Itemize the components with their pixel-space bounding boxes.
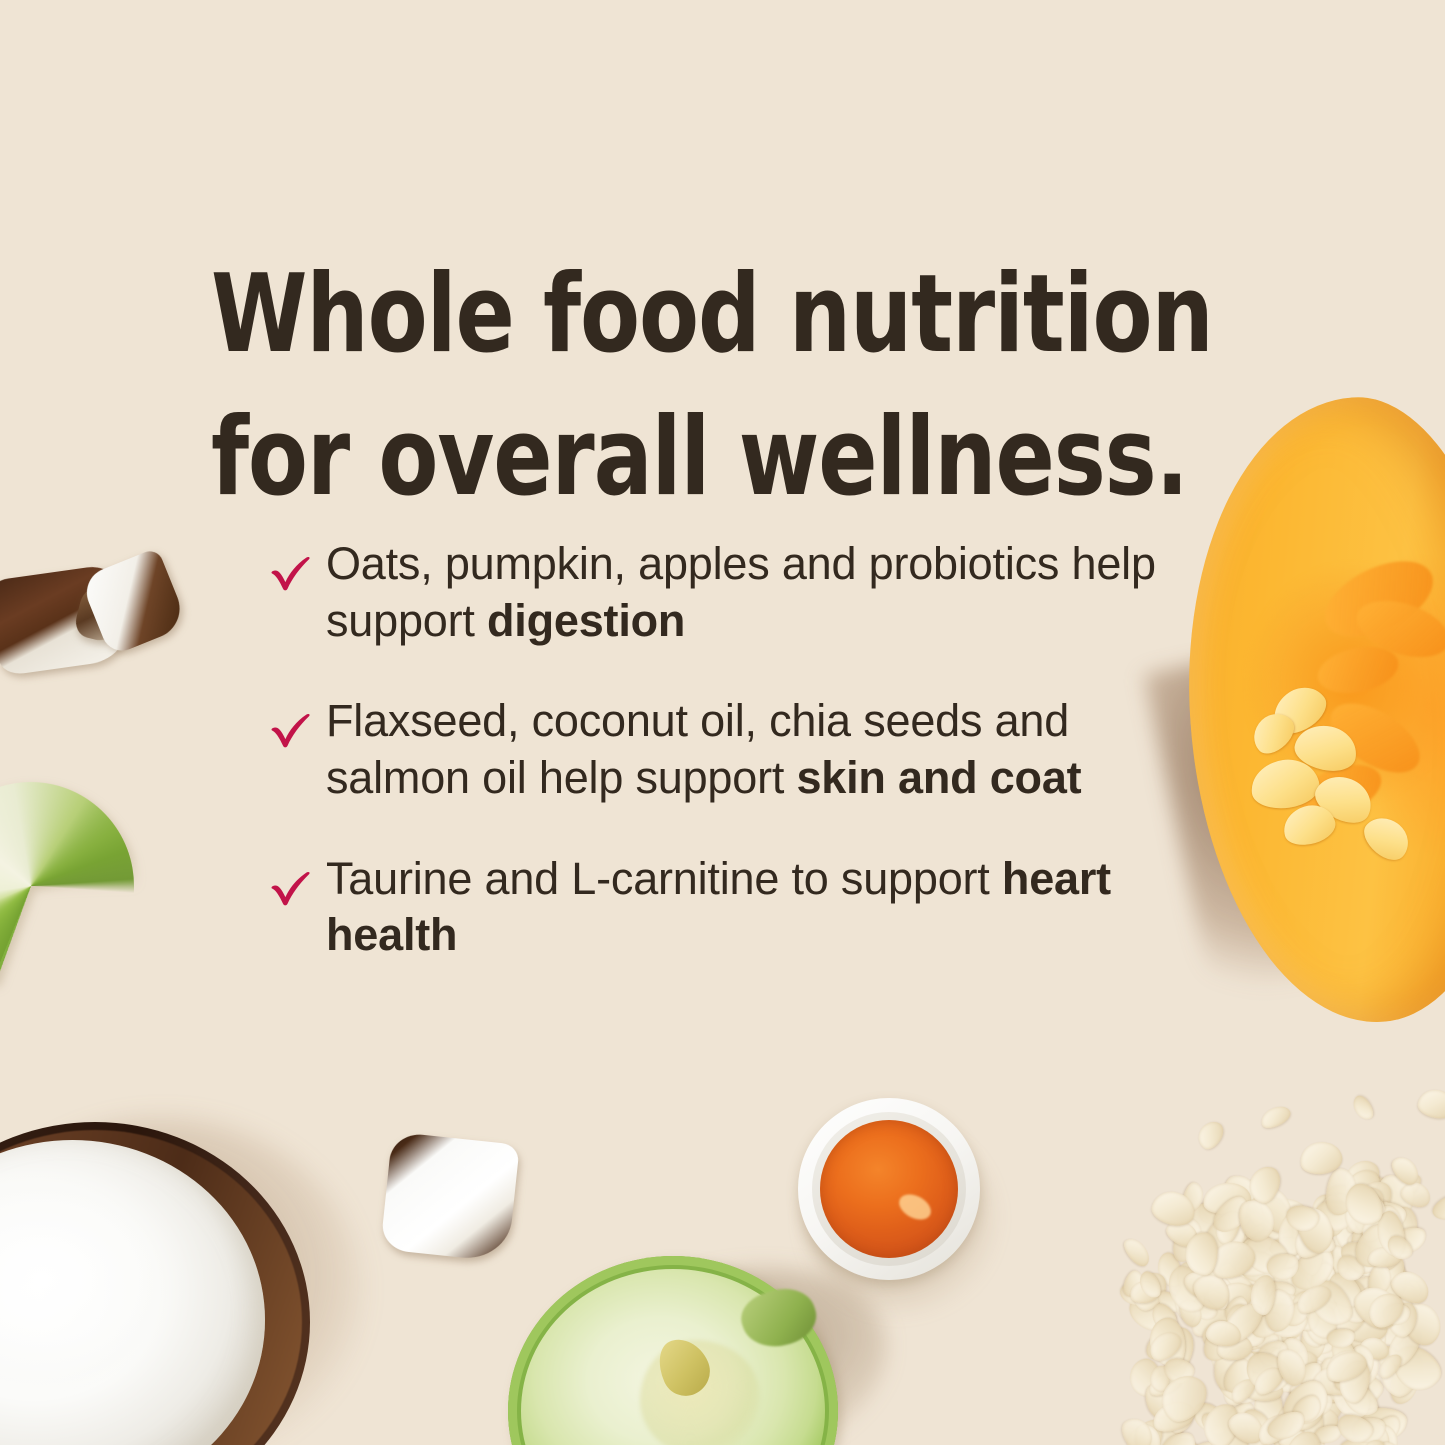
list-item-text: Flaxseed, coconut oil, chia seeds and sa… (326, 693, 1198, 806)
check-mark-icon (268, 707, 314, 753)
list-item: Oats, pumpkin, apples and probiotics hel… (268, 536, 1198, 649)
headline-line-1: Whole food nutrition (211, 244, 1147, 387)
list-item: Taurine and L-carnitine to support heart… (268, 851, 1198, 964)
page-title: Whole food nutrition for overall wellnes… (211, 244, 1147, 529)
content-layer: Whole food nutrition for overall wellnes… (0, 0, 1445, 1445)
benefit-text-normal: Oats, pumpkin, apples and probiotics hel… (326, 538, 1156, 646)
benefit-text-emphasis: skin and coat (796, 752, 1081, 803)
list-item: Flaxseed, coconut oil, chia seeds and sa… (268, 693, 1198, 806)
check-mark-icon (268, 550, 314, 596)
benefit-list: Oats, pumpkin, apples and probiotics hel… (268, 536, 1198, 964)
benefit-text-emphasis: digestion (487, 595, 685, 646)
list-item-text: Taurine and L-carnitine to support heart… (326, 851, 1198, 964)
headline-line-2: for overall wellness. (211, 387, 1147, 530)
promotional-banner: Whole food nutrition for overall wellnes… (0, 0, 1445, 1445)
check-mark-icon (268, 865, 314, 911)
benefit-text-normal: Taurine and L-carnitine to support (326, 853, 1002, 904)
list-item-text: Oats, pumpkin, apples and probiotics hel… (326, 536, 1198, 649)
